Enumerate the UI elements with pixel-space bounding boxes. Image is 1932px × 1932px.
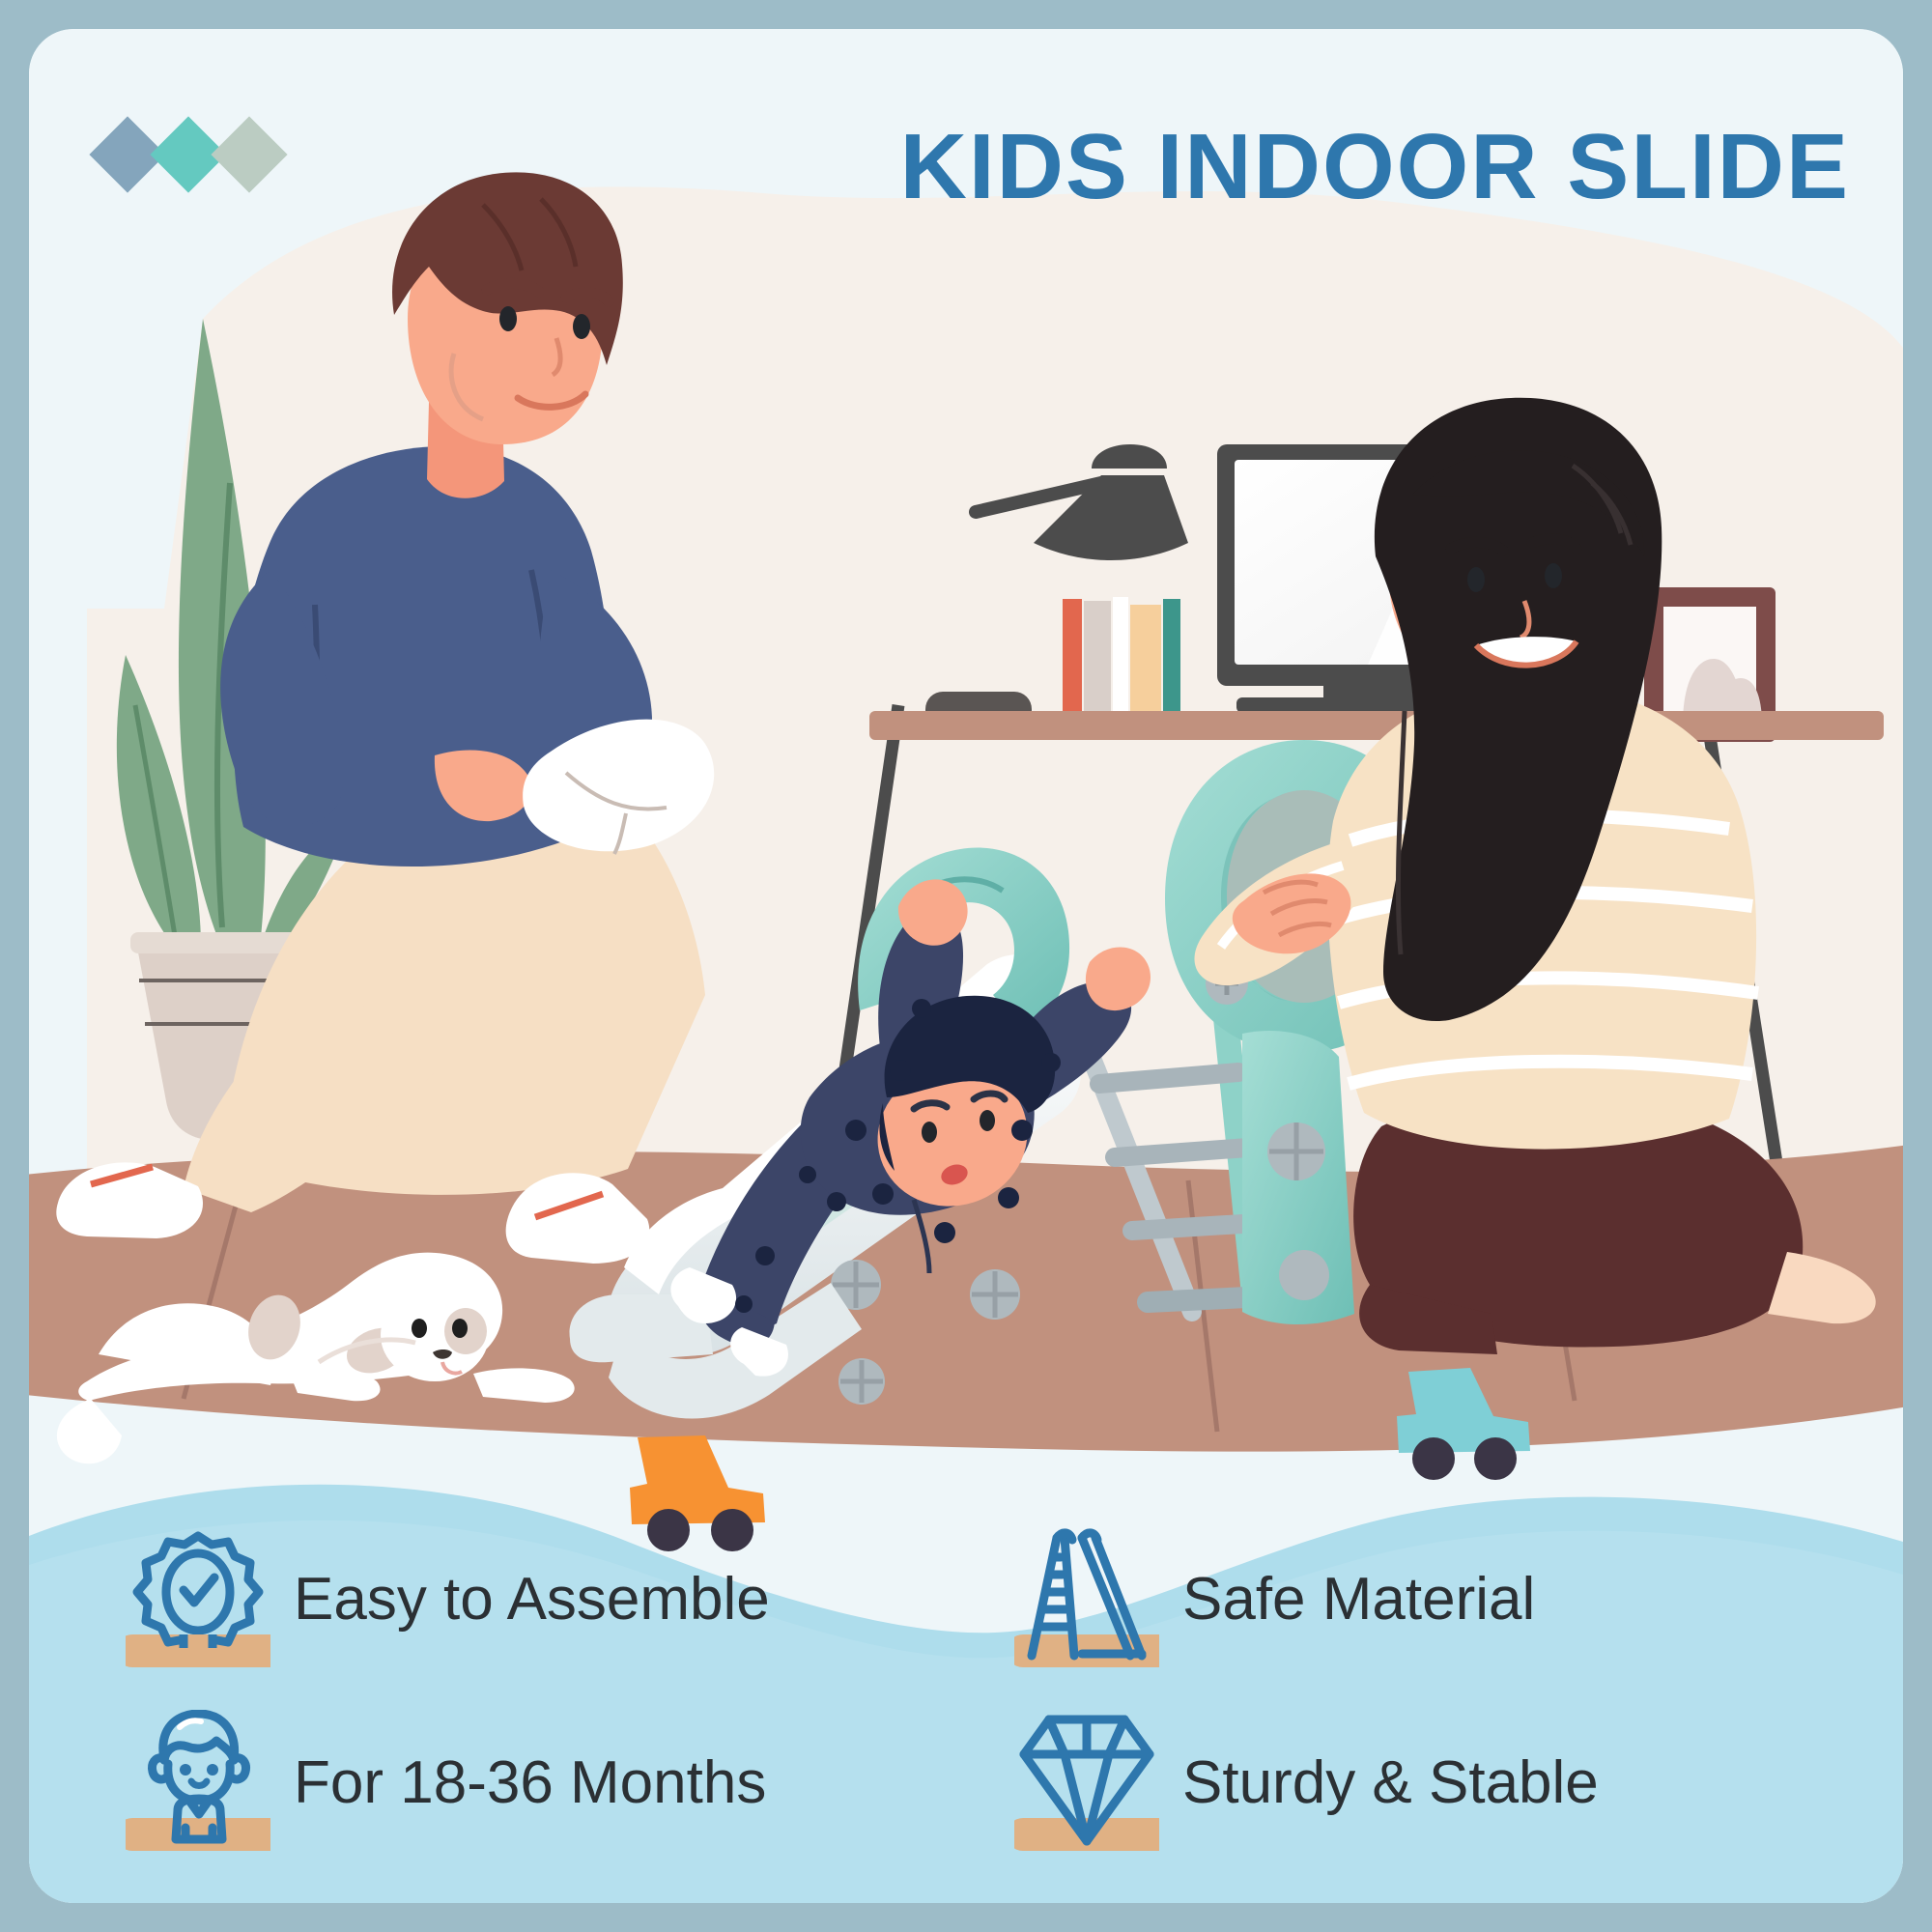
feature-list: Easy to Assemble [29, 1517, 1903, 1903]
feature-label: For 18-36 Months [294, 1748, 766, 1817]
child-head-icon [126, 1710, 270, 1855]
diamond-gem-icon [1014, 1710, 1159, 1855]
brand-diamonds-logo [87, 111, 290, 198]
page-title: KIDS INDOOR SLIDE [900, 114, 1850, 220]
slide-ladder-icon [1014, 1526, 1159, 1671]
feature-item-age-range: For 18-36 Months [126, 1710, 766, 1855]
icon-shadow-bar [126, 1818, 270, 1851]
logo-diamond-3 [211, 116, 287, 192]
feature-item-sturdy-stable: Sturdy & Stable [1014, 1710, 1599, 1855]
feature-item-safe-material: Safe Material [1014, 1526, 1535, 1671]
gear-check-icon [126, 1526, 270, 1671]
feature-label: Easy to Assemble [294, 1565, 770, 1634]
feature-item-easy-to-assemble: Easy to Assemble [126, 1526, 770, 1671]
poster-card: KIDS INDOOR SLIDE [29, 29, 1903, 1903]
feature-label: Safe Material [1182, 1565, 1535, 1634]
poster-root: KIDS INDOOR SLIDE [0, 0, 1932, 1932]
feature-label: Sturdy & Stable [1182, 1748, 1599, 1817]
